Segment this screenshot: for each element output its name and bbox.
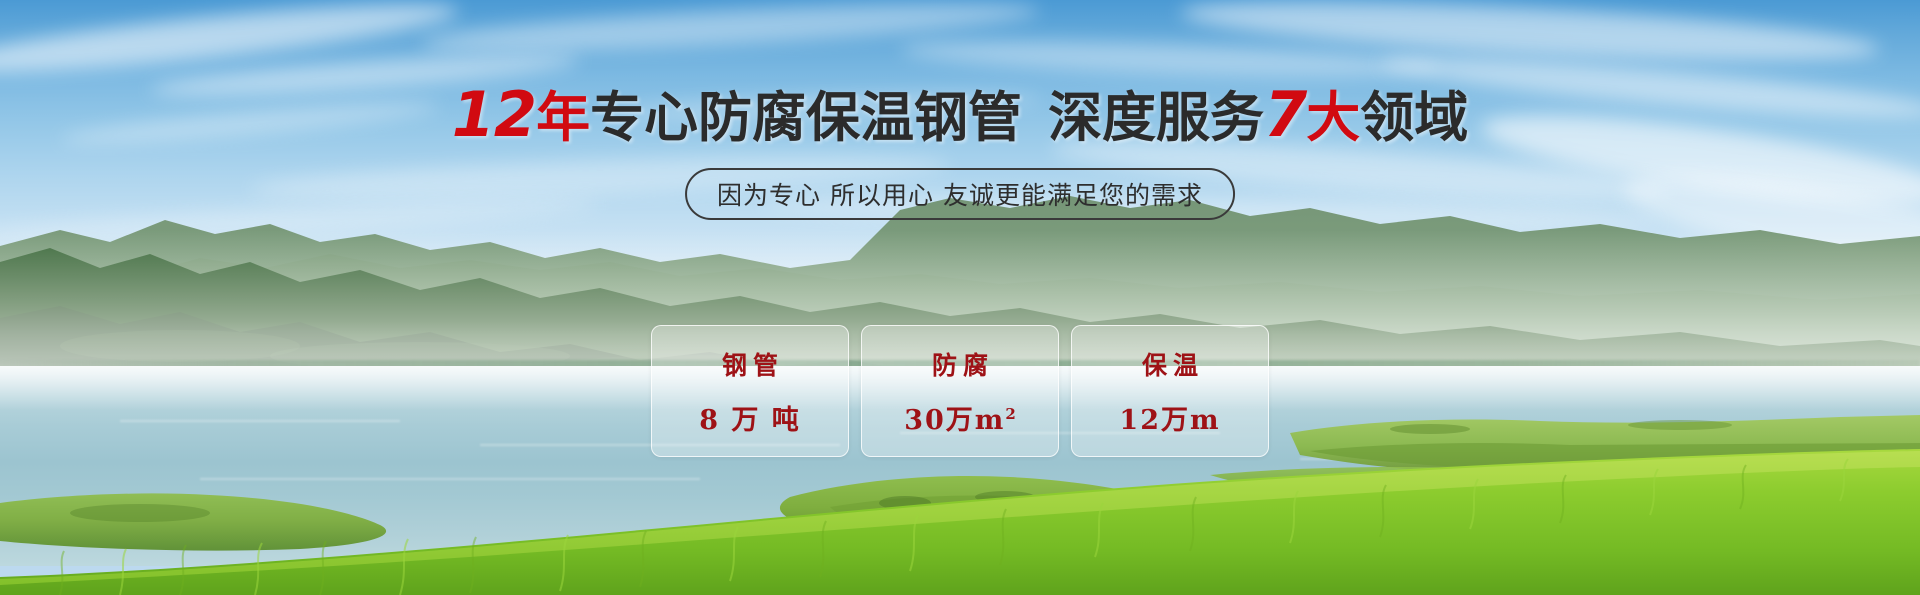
stat-card-anticorrosion[interactable]: 防腐 30万m2 [861, 325, 1059, 457]
stat-card-label: 钢管 [716, 346, 784, 382]
stat-card-value-text: 12万m [1119, 405, 1220, 436]
foreground-grass [0, 445, 1920, 595]
stat-card-label: 保温 [1136, 346, 1204, 382]
stat-card-value-text: 8 万 吨 [699, 405, 801, 436]
stat-card-value-text: 30万m [904, 405, 1005, 436]
stat-card-value: 30万m2 [904, 398, 1016, 437]
stat-cards: 钢管 8 万 吨 防腐 30万m2 保温 12万m [651, 325, 1269, 457]
stat-card-value: 12万m [1119, 398, 1220, 437]
stat-card-value-superscript: 2 [1005, 405, 1015, 423]
stat-card-steel-pipe[interactable]: 钢管 8 万 吨 [651, 325, 849, 457]
promo-banner: 12年专心防腐保温钢管深度服务7大领域 因为专心 所以用心 友诚更能满足您的需求… [0, 0, 1920, 595]
stat-card-value: 8 万 吨 [699, 398, 801, 437]
stat-card-insulation[interactable]: 保温 12万m [1071, 325, 1269, 457]
stat-card-label: 防腐 [926, 346, 994, 382]
subtitle-text: 因为专心 所以用心 友诚更能满足您的需求 [717, 176, 1203, 212]
subtitle-pill: 因为专心 所以用心 友诚更能满足您的需求 [685, 168, 1235, 220]
